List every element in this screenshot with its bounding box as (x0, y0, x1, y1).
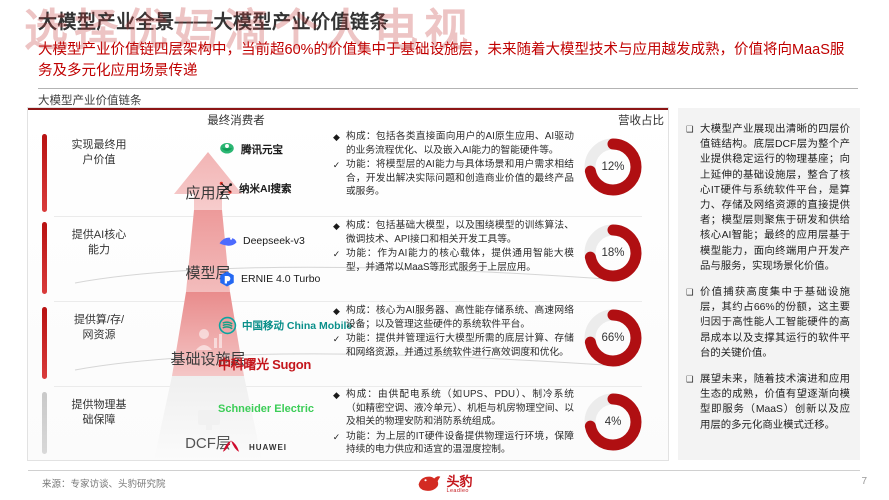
layer-accent-bar-2 (42, 307, 47, 379)
layer-accent-bar-0 (42, 134, 47, 212)
page-title: 大模型产业全景——大模型产业价值链条 (38, 10, 868, 36)
logo-item-nami-ai: 纳米AI搜索 (218, 173, 330, 203)
logo-item-china-mobile: 中国移动 China Mobile (218, 310, 330, 340)
logo-label: Schneider Electric (218, 403, 314, 415)
chart-label: 大模型产业价值链条 (38, 92, 142, 108)
donut-value-3: 4% (582, 391, 644, 453)
china-mobile-logo (218, 316, 237, 335)
logo-item-tencent-yuanbao: 腾讯元宝 (218, 134, 330, 164)
deepseek-logo (218, 232, 238, 250)
logo-label: 中科曙光 Sugon (218, 354, 311, 373)
footer-divider (28, 470, 860, 471)
logo-label: ERNIE 4.0 Turbo (241, 273, 320, 285)
diamond-bullet-icon: ◆ (332, 388, 341, 429)
square-bullet-icon: ❑ (686, 372, 695, 433)
donut-chart-3: 4% (582, 391, 644, 453)
description-line: ◆ 构成：核心为AI服务器、高性能存储系统、高速网络设备；以及管理这些硬件的系统… (332, 304, 574, 331)
leadleo-en: Leadleo (446, 489, 472, 495)
analysis-text-1: 价值捕获高度集中于基础设施层，其约占66%的份额，这主要归因于高性能人工智能硬件… (700, 285, 850, 361)
donut-cell-1: 18% (572, 216, 654, 290)
check-bullet-icon: ✓ (332, 158, 341, 199)
donut-value-2: 66% (582, 307, 644, 369)
description-text: 功能：将模型层的AI能力与具体场景和用户需求相结合，开发出解决实际问题和创造商业… (346, 158, 574, 199)
description-text: 构成：由供配电系统（如UPS、PDU）、制冷系统（如精密空调、液冷单元）、机柜与… (346, 388, 574, 429)
donut-chart-2: 66% (582, 307, 644, 369)
check-bullet-icon: ✓ (332, 332, 341, 359)
logo-item-schneider: Schneider Electric (218, 394, 330, 424)
leadleo-wordmark: 头豹 Leadleo (446, 475, 472, 495)
logo-label: 纳米AI搜索 (239, 181, 292, 196)
slide-root: 选择优妈滴个人电视 大模型产业全景——大模型产业价值链条 大模型产业价值链四层架… (0, 0, 889, 500)
description-line: ✓ 功能：作为AI能力的核心载体，提供通用智能大模型，并通常以MaaS等形式服务… (332, 247, 574, 274)
column-header-revenue: 营收占比 (600, 112, 682, 128)
description-line: ✓ 功能：提供并管理运行大模型所需的底层计算、存储和网络资源，并通过系统软件进行… (332, 332, 574, 359)
description-text: 功能：为上层的IT硬件设备提供物理运行环境，保障持续的电力供应和适宜的温湿度控制… (346, 430, 574, 457)
description-line: ✓ 功能：将模型层的AI能力与具体场景和用户需求相结合，开发出解决实际问题和创造… (332, 158, 574, 199)
logo-item-deepseek: Deepseek-v3 (218, 226, 330, 256)
page-number: 7 (861, 476, 867, 487)
analysis-item-2: ❑ 展望未来，随着技术演进和应用生态的成熟，价值有望逐渐向模型即服务（MaaS）… (686, 372, 850, 433)
square-bullet-icon: ❑ (686, 122, 695, 274)
leopard-icon (416, 472, 442, 497)
description-block-2: ◆ 构成：核心为AI服务器、高性能存储系统、高速网络设备；以及管理这些硬件的系统… (332, 304, 574, 360)
description-line: ◆ 构成：包括基础大模型，以及围绕模型的训练算法、微调技术、API接口和相关开发… (332, 219, 574, 246)
leadleo-cn: 头豹 (446, 475, 472, 488)
donut-chart-0: 12% (582, 136, 644, 198)
logo-label: 腾讯元宝 (241, 142, 283, 157)
check-bullet-icon: ✓ (332, 247, 341, 274)
page-subtitle: 大模型产业价值链四层架构中，当前超60%的价值集中于基础设施层，未来随着大模型技… (38, 40, 858, 82)
square-bullet-icon: ❑ (686, 285, 695, 361)
donut-cell-3: 4% (572, 385, 654, 459)
huawei-logo (218, 438, 244, 456)
donut-value-0: 12% (582, 136, 644, 198)
logo-item-sugon: 中科曙光 Sugon (218, 348, 330, 378)
description-line: ◆ 构成：由供配电系统（如UPS、PDU）、制冷系统（如精密空调、液冷单元）、机… (332, 388, 574, 429)
description-block-0: ◆ 构成：包括各类直接面向用户的AI原生应用、AI驱动的业务流程优化、以及嵌入A… (332, 130, 574, 200)
layer-accent-bar-3 (42, 392, 47, 454)
description-text: 构成：核心为AI服务器、高性能存储系统、高速网络设备；以及管理这些硬件的系统软件… (346, 304, 574, 331)
analysis-text-0: 大模型产业展现出清晰的四层价值链结构。底层DCF层为整个产业提供稳定运行的物理基… (700, 122, 850, 274)
donut-cell-0: 12% (572, 130, 654, 204)
diamond-bullet-icon: ◆ (332, 304, 341, 331)
logo-item-huawei: HUAWEI (218, 432, 330, 462)
analysis-text-2: 展望未来，随着技术演进和应用生态的成熟，价值有望逐渐向模型即服务（MaaS）创新… (700, 372, 850, 433)
logo-label: HUAWEI (249, 443, 287, 452)
diamond-bullet-icon: ◆ (332, 219, 341, 246)
description-line: ◆ 构成：包括各类直接面向用户的AI原生应用、AI驱动的业务流程优化、以及嵌入A… (332, 130, 574, 157)
check-bullet-icon: ✓ (332, 430, 341, 457)
description-text: 构成：包括基础大模型，以及围绕模型的训练算法、微调技术、API接口和相关开发工具… (346, 219, 574, 246)
slide-header: 大模型产业全景——大模型产业价值链条 大模型产业价值链四层架构中，当前超60%的… (38, 10, 868, 82)
analysis-panel: ❑ 大模型产业展现出清晰的四层价值链结构。底层DCF层为整个产业提供稳定运行的物… (678, 108, 860, 460)
ernie-logo (218, 270, 236, 288)
donut-chart-1: 18% (582, 222, 644, 284)
description-block-3: ◆ 构成：由供配电系统（如UPS、PDU）、制冷系统（如精密空调、液冷单元）、机… (332, 388, 574, 458)
description-text: 功能：提供并管理运行大模型所需的底层计算、存储和网络资源，并通过系统软件进行高效… (346, 332, 574, 359)
description-text: 功能：作为AI能力的核心载体，提供通用智能大模型，并通常以MaaS等形式服务于上… (346, 247, 574, 274)
description-block-1: ◆ 构成：包括基础大模型，以及围绕模型的训练算法、微调技术、API接口和相关开发… (332, 219, 574, 275)
description-text: 构成：包括各类直接面向用户的AI原生应用、AI驱动的业务流程优化、以及嵌入AI能… (346, 130, 574, 157)
description-line: ✓ 功能：为上层的IT硬件设备提供物理运行环境，保障持续的电力供应和适宜的温湿度… (332, 430, 574, 457)
donut-value-1: 18% (582, 222, 644, 284)
logo-label: Deepseek-v3 (243, 235, 305, 247)
logo-item-ernie: ERNIE 4.0 Turbo (218, 264, 330, 294)
diamond-bullet-icon: ◆ (332, 130, 341, 157)
analysis-item-0: ❑ 大模型产业展现出清晰的四层价值链结构。底层DCF层为整个产业提供稳定运行的物… (686, 122, 850, 274)
nami-ai-logo (218, 180, 234, 196)
donut-cell-2: 66% (572, 301, 654, 375)
header-divider (38, 88, 858, 89)
layer-accent-bar-1 (42, 222, 47, 294)
tencent-yuanbao-logo (218, 140, 236, 158)
leadleo-logo: 头豹 Leadleo (0, 472, 889, 497)
analysis-item-1: ❑ 价值捕获高度集中于基础设施层，其约占66%的份额，这主要归因于高性能人工智能… (686, 285, 850, 361)
